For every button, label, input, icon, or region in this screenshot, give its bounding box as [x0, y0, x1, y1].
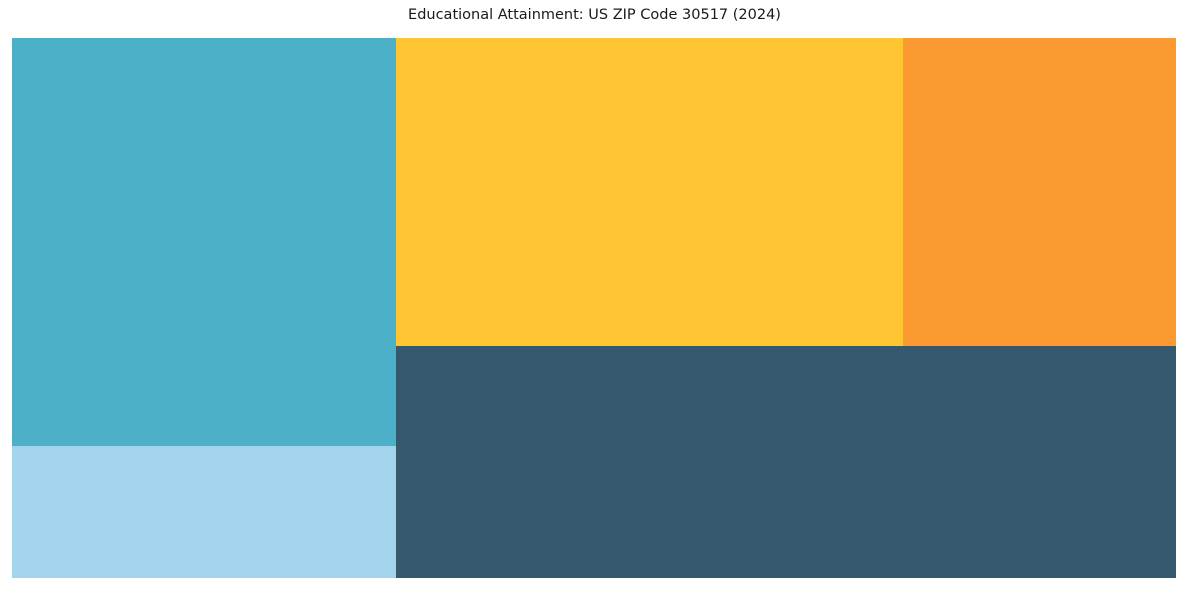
page-title: Educational Attainment: US ZIP Code 3051…	[0, 6, 1189, 24]
treemap-plot-area	[12, 38, 1176, 578]
treemap-tile-yellow[interactable]	[396, 38, 903, 346]
treemap-tile-dark-blue[interactable]	[396, 346, 1176, 578]
treemap-tile-light-blue[interactable]	[12, 446, 396, 578]
treemap-tile-orange[interactable]	[903, 38, 1176, 346]
chart-figure: Educational Attainment: US ZIP Code 3051…	[0, 0, 1189, 590]
treemap-tile-teal[interactable]	[12, 38, 396, 446]
